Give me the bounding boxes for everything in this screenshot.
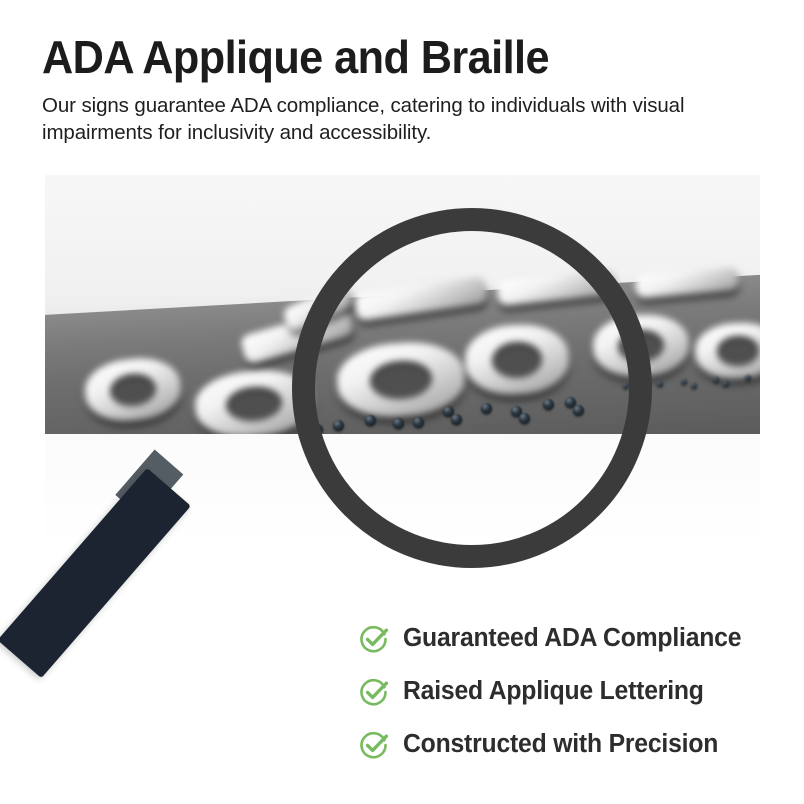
feature-item: Constructed with Precision bbox=[358, 718, 770, 771]
page-subtitle: Our signs guarantee ADA compliance, cate… bbox=[42, 92, 732, 146]
feature-label: Raised Applique Lettering bbox=[403, 677, 704, 706]
feature-item: Raised Applique Lettering bbox=[358, 665, 770, 718]
feature-item: Guaranteed ADA Compliance bbox=[358, 612, 770, 665]
feature-list: Guaranteed ADA Compliance Raised Appliqu… bbox=[358, 612, 770, 771]
page-title: ADA Applique and Braille bbox=[42, 30, 719, 84]
feature-label: Guaranteed ADA Compliance bbox=[403, 624, 741, 653]
header: ADA Applique and Braille Our signs guara… bbox=[42, 30, 762, 146]
check-circle-icon bbox=[358, 623, 390, 655]
feature-label: Constructed with Precision bbox=[403, 730, 718, 759]
check-circle-icon bbox=[358, 676, 390, 708]
ada-applique-braille-panel: ADA Applique and Braille Our signs guara… bbox=[0, 0, 804, 804]
product-photo bbox=[45, 175, 760, 599]
check-circle-icon bbox=[358, 729, 390, 761]
photo-table-surface bbox=[45, 434, 760, 599]
